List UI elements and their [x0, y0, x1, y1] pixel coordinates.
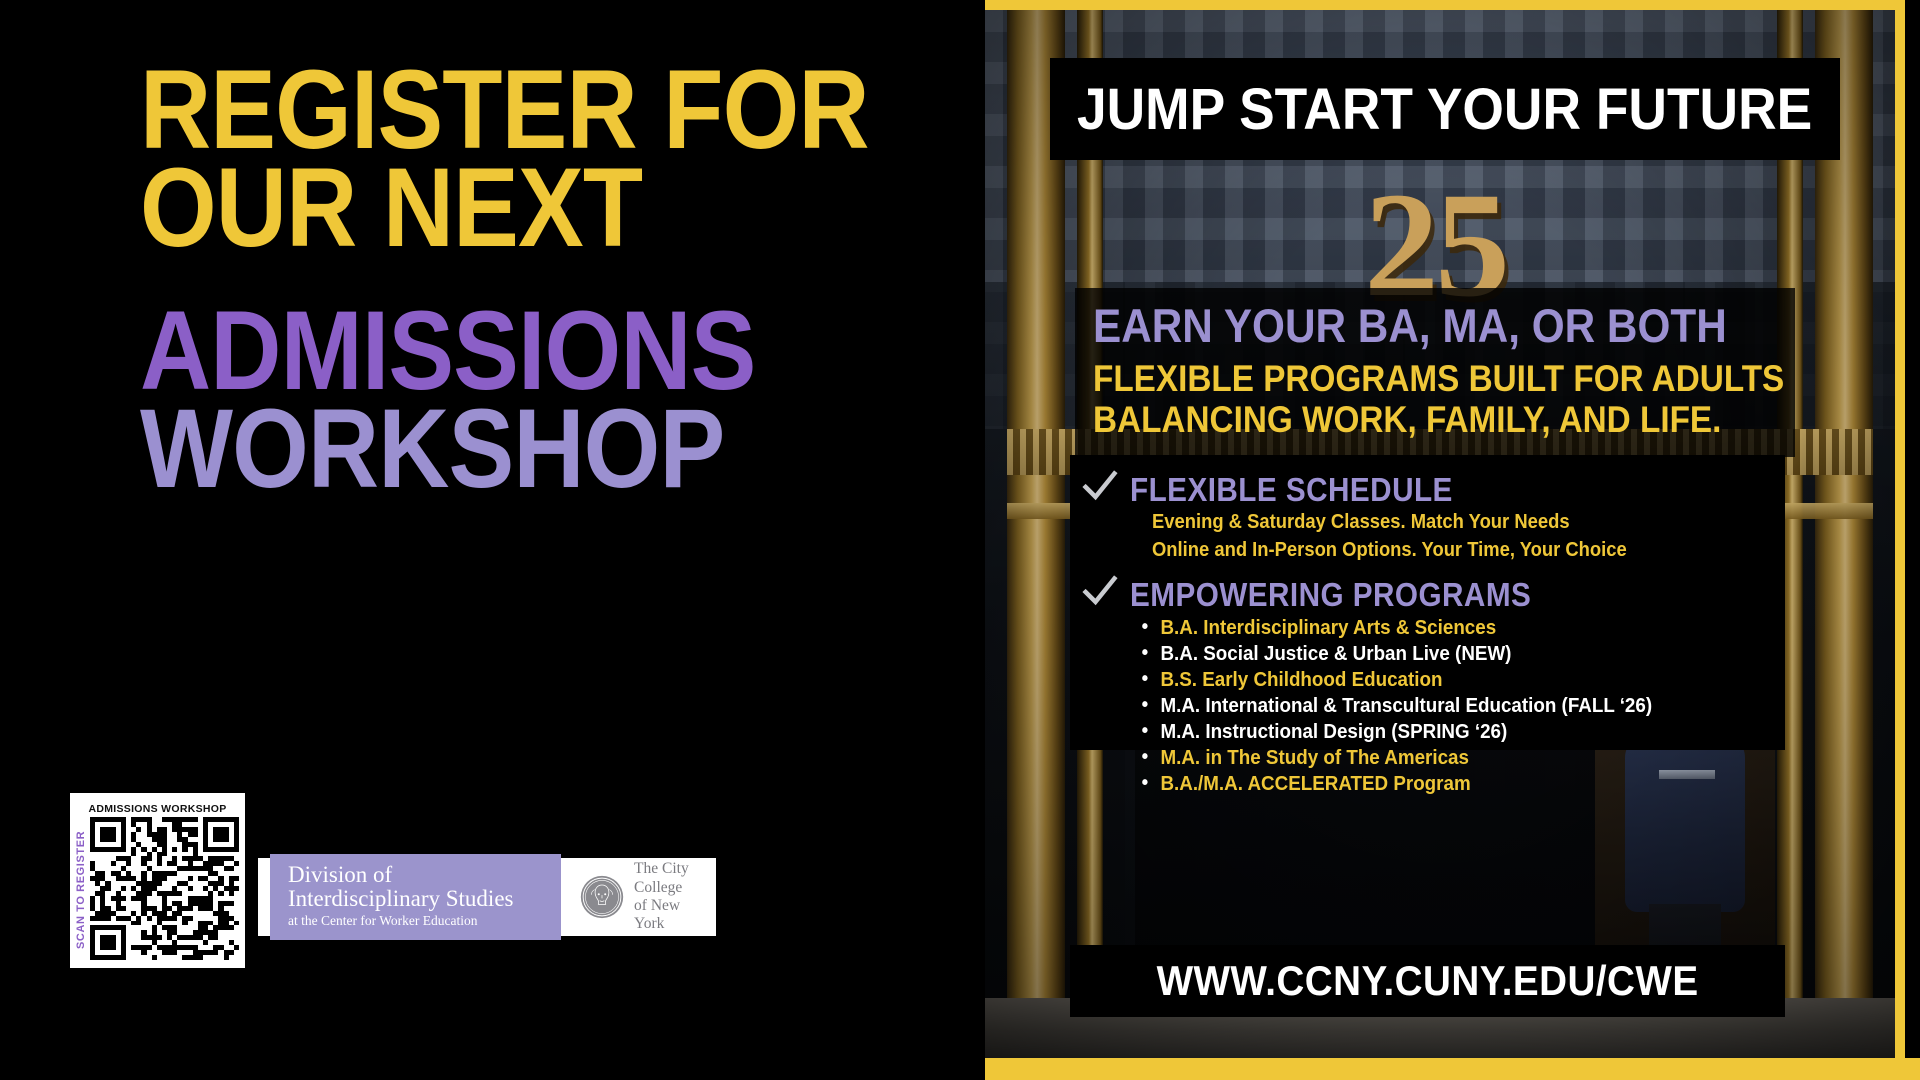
flyer-poster: REGISTER FOR OUR NEXT ADMISSIONS WORKSHO… — [0, 0, 1920, 1080]
program-list-item: B.A. Social Justice & Urban Live (NEW) — [1136, 641, 1746, 667]
main-headline: REGISTER FOR OUR NEXT ADMISSIONS WORKSHO… — [140, 62, 860, 497]
flexible-schedule-section: FLEXIBLE SCHEDULE Evening & Saturday Cla… — [1070, 455, 1785, 564]
program-list-item: B.A. Interdisciplinary Arts & Sciences — [1136, 615, 1746, 641]
ccny-logo-text: The City College of New York — [634, 860, 704, 933]
qr-card-title: ADMISSIONS WORKSHOP — [70, 803, 245, 815]
empowering-programs-section: EMPOWERING PROGRAMS B.A. Interdisciplina… — [1070, 564, 1785, 797]
ccny-seal-icon — [579, 874, 625, 920]
jump-start-banner: JUMP START YOUR FUTURE — [1050, 58, 1840, 160]
frame-edge-left — [960, 0, 985, 1080]
headline-line-2: OUR NEXT — [140, 160, 774, 256]
division-logo: Division of Interdisciplinary Studies at… — [270, 854, 561, 939]
qr-code-image[interactable] — [90, 817, 239, 960]
qr-card-body: SCAN TO REGISTER — [70, 815, 245, 968]
flexible-schedule-title: FLEXIBLE SCHEDULE — [1130, 471, 1720, 509]
earn-degrees-block: EARN YOUR BA, MA, OR BOTH FLEXIBLE PROGR… — [1075, 288, 1795, 457]
checkmark-icon — [1082, 574, 1118, 610]
flexible-schedule-sub-1: Evening & Saturday Classes. Match Your N… — [1152, 509, 1734, 537]
left-panel: REGISTER FOR OUR NEXT ADMISSIONS WORKSHO… — [0, 0, 960, 1080]
qr-card[interactable]: ADMISSIONS WORKSHOP SCAN TO REGISTER — [70, 793, 245, 968]
details-block: FLEXIBLE SCHEDULE Evening & Saturday Cla… — [1070, 455, 1785, 750]
headline-line-3: ADMISSIONS — [140, 303, 774, 399]
headline-line-1: REGISTER FOR — [140, 62, 774, 158]
scan-to-register-label: SCAN TO REGISTER — [75, 817, 87, 960]
frame-edge-bottom — [985, 1058, 1920, 1080]
ccny-line-1: The City College — [634, 860, 704, 897]
qr-cell — [234, 955, 239, 960]
earn-subline-2: BALANCING WORK, FAMILY, AND LIFE. — [1093, 399, 1709, 440]
program-list-item: M.A. Instructional Design (SPRING ‘26) — [1136, 719, 1746, 745]
jump-start-text: JUMP START YOUR FUTURE — [1077, 76, 1812, 143]
frame-edge-top — [985, 0, 1895, 10]
ccny-logo: The City College of New York — [579, 860, 704, 933]
flexible-schedule-sub-2: Online and In-Person Options. Your Time,… — [1152, 537, 1734, 565]
earn-headline: EARN YOUR BA, MA, OR BOTH — [1093, 302, 1709, 350]
program-list-item: B.A./M.A. ACCELERATED Program — [1136, 771, 1746, 797]
frame-edge-right — [1895, 0, 1920, 1080]
empowering-programs-title: EMPOWERING PROGRAMS — [1130, 576, 1720, 614]
checkmark-icon — [1082, 469, 1118, 505]
website-url-text: WWW.CCNY.CUNY.EDU/CWE — [1156, 957, 1698, 1005]
ccny-line-2: of New York — [634, 897, 704, 934]
programs-list: B.A. Interdisciplinary Arts & SciencesB.… — [1136, 615, 1785, 797]
logo-bar: Division of Interdisciplinary Studies at… — [258, 858, 716, 936]
program-list-item: M.A. in The Study of The Americas — [1136, 745, 1746, 771]
division-subname: at the Center for Worker Education — [288, 913, 547, 929]
program-list-item: B.S. Early Childhood Education — [1136, 667, 1746, 693]
division-name: Division of Interdisciplinary Studies — [288, 863, 547, 911]
earn-subline-1: FLEXIBLE PROGRAMS BUILT FOR ADULTS — [1093, 358, 1709, 399]
website-url-banner[interactable]: WWW.CCNY.CUNY.EDU/CWE — [1070, 945, 1785, 1017]
program-list-item: M.A. International & Transcultural Educa… — [1136, 693, 1746, 719]
headline-line-4: WORKSHOP — [140, 401, 774, 497]
right-panel: 25 JUMP START YOUR FUTURE EARN YOUR BA, … — [960, 0, 1920, 1080]
